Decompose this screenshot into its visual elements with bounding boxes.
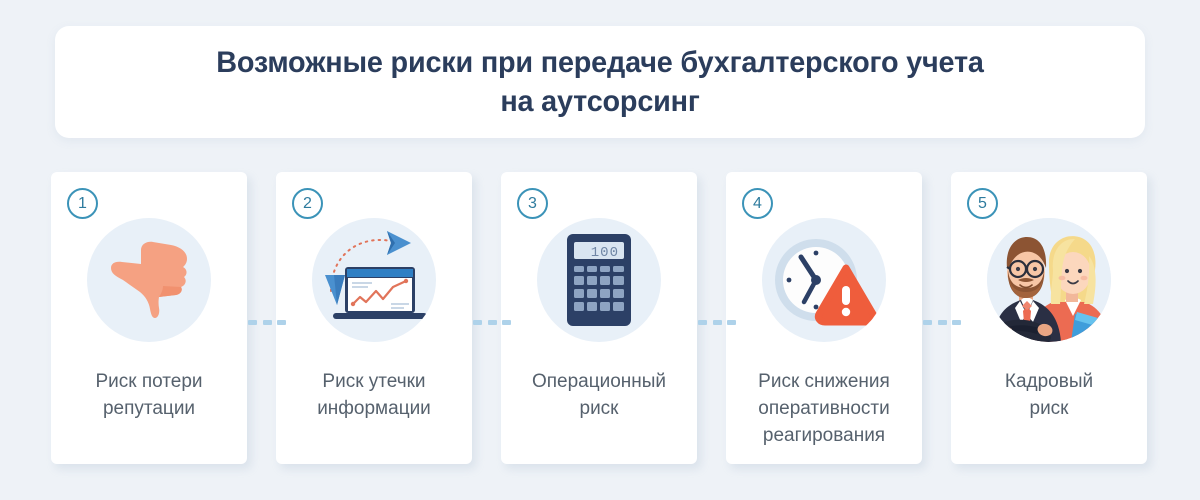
dash [923,320,932,325]
calculator-display-value: 100 [591,245,619,261]
card-label-line-1: Кадровый [1005,371,1093,392]
risks-infographic: Возможные риски при передаче бухгалтерск… [0,0,1200,500]
calculator-icon: 100 [567,234,631,326]
connector-4-5 [923,320,961,325]
dash [938,320,947,325]
connector-2-3 [473,320,511,325]
thumbs-down-icon [97,228,201,332]
business-people-icon [987,218,1111,342]
dash [488,320,497,325]
card-number-badge: 2 [292,188,323,219]
risk-card-3[interactable]: 3 100 [501,172,697,464]
card-label: Операционный риск [507,368,691,422]
card-label-line-2: информации [317,398,431,419]
risk-card-4[interactable]: 4 [726,172,922,464]
card-label-line-2: репутации [103,398,195,419]
card-number-badge: 3 [517,188,548,219]
risk-card-2[interactable]: 2 [276,172,472,464]
card-label-line-1: Операционный [532,371,666,392]
card-label-line-1: Риск потери [95,371,202,392]
card-label: Риск утечки информации [282,368,466,422]
title-line-2: на аутсорсинг [500,85,699,118]
card-number-badge: 1 [67,188,98,219]
card-label: Кадровый риск [957,368,1141,422]
card-number-badge: 5 [967,188,998,219]
dash [952,320,961,325]
icon-circle [762,218,886,342]
card-label-line-1: Риск утечки [322,371,425,392]
card-label-line-2: риск [1030,398,1069,419]
risk-card-5[interactable]: 5 [951,172,1147,464]
icon-circle [312,218,436,342]
card-label-line-3: реагирования [763,425,885,446]
title-line-1: Возможные риски при передаче бухгалтерск… [216,46,983,79]
dash [698,320,707,325]
icon-circle: 100 [537,218,661,342]
dash [502,320,511,325]
icon-circle [987,218,1111,342]
card-number-badge: 4 [742,188,773,219]
dash [473,320,482,325]
page-title: Возможные риски при передаче бухгалтерск… [120,43,1080,121]
laptop-chart-data-leak-icon [315,221,433,339]
risk-card-1[interactable]: 1 Риск потери репутации [51,172,247,464]
icon-circle [87,218,211,342]
card-label: Риск снижения оперативности реагирования [732,368,916,449]
connector-3-4 [698,320,736,325]
card-label-line-2: оперативности [758,398,889,419]
title-banner: Возможные риски при передаче бухгалтерск… [55,26,1145,138]
connector-1-2 [248,320,286,325]
card-row: 1 Риск потери репутации 2 [0,172,1200,472]
card-label: Риск потери репутации [57,368,241,422]
clock-warning-icon [770,228,878,332]
dash [263,320,272,325]
card-label-line-1: Риск снижения [758,371,890,392]
dash [248,320,257,325]
dash [277,320,286,325]
dash [713,320,722,325]
dash [727,320,736,325]
card-label-line-2: риск [580,398,619,419]
